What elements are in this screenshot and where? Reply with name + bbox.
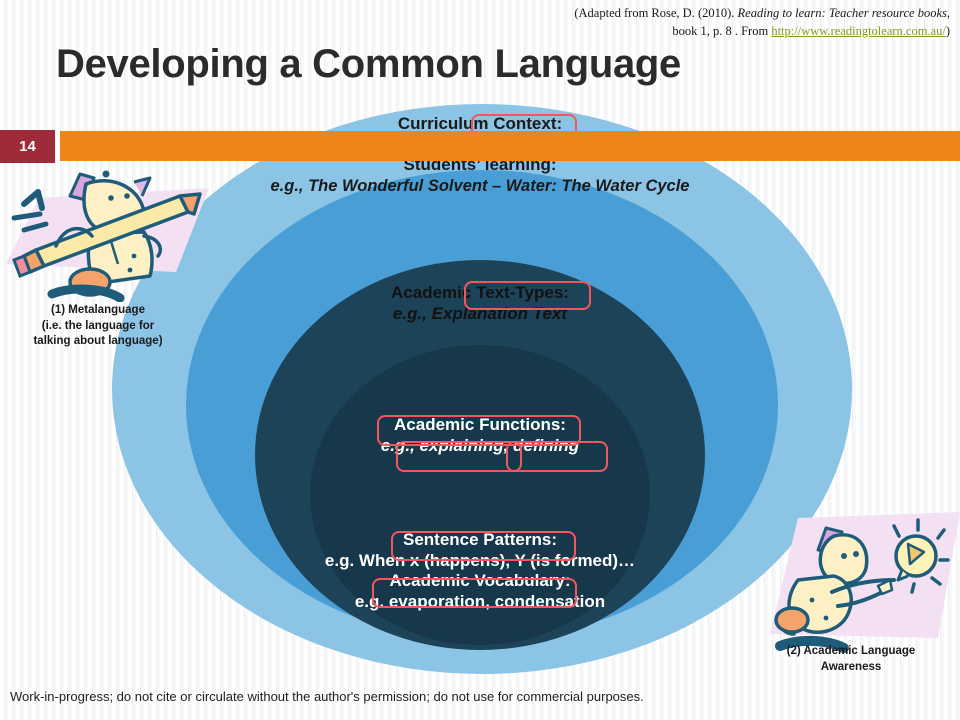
inner-ring-example1: e.g. When x (happens), Y (is formed)…	[250, 551, 710, 572]
citation-title-italic: Reading to learn: Teacher resource books	[738, 6, 947, 20]
inner-ring-heading2: Academic Vocabulary:	[250, 571, 710, 592]
citation-line1-suffix: ,	[947, 6, 950, 20]
third-ring-text: Academic Functions: e.g., explaining, de…	[300, 415, 660, 456]
second-ring-heading: Academic Text-Types:	[290, 283, 670, 304]
second-ring-text: Academic Text-Types: e.g., Explanation T…	[290, 283, 670, 324]
citation-line1-prefix: (Adapted from Rose, D. (2010).	[574, 6, 737, 20]
metalanguage-caption: (1) Metalanguage (i.e. the language for …	[0, 303, 196, 350]
person-with-pencil-illustration	[0, 152, 209, 302]
citation-line2-suffix: )	[946, 24, 950, 38]
citation-link[interactable]: http://www.readingtolearn.com.au/	[771, 24, 946, 38]
awareness-caption-line1: (2) Academic Language	[742, 644, 960, 660]
metalanguage-caption-line2: (i.e. the language for	[0, 319, 196, 335]
citation-line2-prefix: book 1, p. 8 . From	[672, 24, 771, 38]
inner-ring-text: Sentence Patterns: e.g. When x (happens)…	[250, 530, 710, 613]
citation-block: (Adapted from Rose, D. (2010). Reading t…	[480, 4, 950, 40]
academic-language-awareness-caption: (2) Academic Language Awareness	[742, 644, 960, 675]
page-title: Developing a Common Language	[56, 42, 681, 87]
metalanguage-caption-line3: talking about language)	[0, 334, 196, 350]
person-with-lightbulb-illustration	[752, 508, 960, 656]
third-ring-example: e.g., explaining, defining	[300, 436, 660, 457]
awareness-caption-line2: Awareness	[742, 660, 960, 676]
metalanguage-caption-line1: (1) Metalanguage	[0, 303, 196, 319]
footer-disclaimer: Work-in-progress; do not cite or circula…	[10, 689, 770, 704]
third-ring-heading: Academic Functions:	[300, 415, 660, 436]
inner-ring-example2: e.g. evaporation, condensation	[250, 592, 710, 613]
slide-canvas: (Adapted from Rose, D. (2010). Reading t…	[0, 0, 960, 720]
outer-ring-example: e.g., The Wonderful Solvent – Water: The…	[180, 176, 780, 196]
inner-ring-heading1: Sentence Patterns:	[250, 530, 710, 551]
second-ring-example: e.g., Explanation Text	[290, 304, 670, 325]
